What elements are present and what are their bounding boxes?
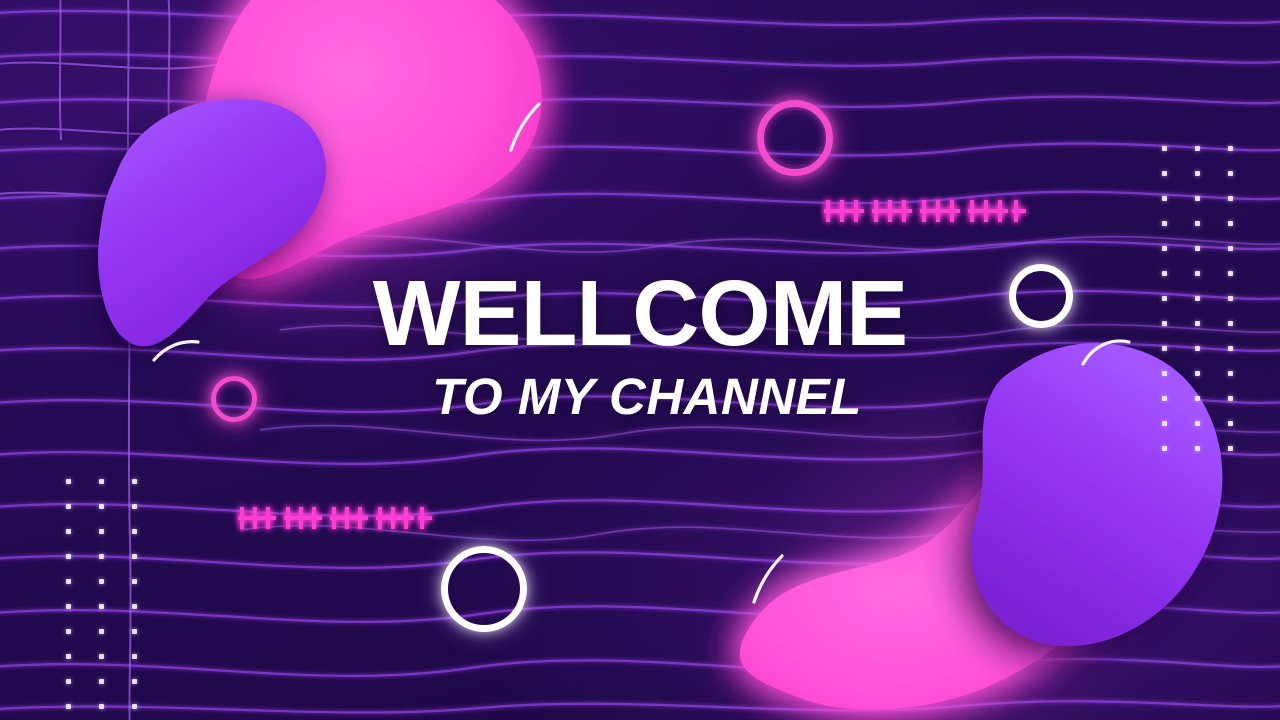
dot — [1162, 221, 1167, 226]
dot — [99, 479, 104, 484]
dot — [1162, 146, 1167, 151]
headline-block: WELLCOME TO MY CHANNEL — [0, 268, 1280, 422]
dot — [66, 529, 71, 534]
dot — [99, 679, 104, 684]
dot — [1228, 146, 1233, 151]
dot — [99, 654, 104, 659]
dot — [99, 529, 104, 534]
page-title: WELLCOME — [0, 268, 1280, 359]
dot — [132, 529, 137, 534]
dot — [66, 604, 71, 609]
ring-white-large — [441, 546, 527, 632]
dot — [66, 679, 71, 684]
accent-arc-top-left — [505, 100, 549, 156]
dot — [1195, 446, 1200, 451]
dot — [1195, 246, 1200, 251]
dot — [66, 479, 71, 484]
dot — [66, 704, 71, 709]
dot — [1162, 171, 1167, 176]
dot — [99, 504, 104, 509]
dot — [99, 629, 104, 634]
accent-arc-bottom-right — [748, 552, 792, 608]
dot — [99, 554, 104, 559]
dot — [1195, 221, 1200, 226]
tally-marks-bottom-left — [234, 503, 434, 533]
dot-grid-left — [66, 479, 137, 720]
dot — [66, 554, 71, 559]
dot — [1228, 196, 1233, 201]
dot — [66, 629, 71, 634]
page-subtitle: TO MY CHANNEL — [0, 371, 1280, 422]
dot — [132, 654, 137, 659]
dot — [1162, 196, 1167, 201]
dot — [132, 604, 137, 609]
dot — [132, 504, 137, 509]
dot — [66, 579, 71, 584]
dot — [1228, 446, 1233, 451]
dot — [132, 554, 137, 559]
welcome-banner: WELLCOME TO MY CHANNEL — [0, 0, 1280, 720]
dot — [1195, 196, 1200, 201]
dot — [1195, 171, 1200, 176]
dot — [1162, 246, 1167, 251]
ring-pink-large — [757, 100, 833, 176]
dot — [1195, 146, 1200, 151]
dot — [99, 579, 104, 584]
tally-marks-top-right — [820, 196, 1030, 226]
dot — [1228, 221, 1233, 226]
dot — [1228, 171, 1233, 176]
dot — [132, 479, 137, 484]
dot — [1162, 446, 1167, 451]
dot — [99, 704, 104, 709]
dot — [132, 679, 137, 684]
dot — [66, 654, 71, 659]
dot — [132, 704, 137, 709]
dot — [132, 579, 137, 584]
dot — [99, 604, 104, 609]
dot — [1228, 246, 1233, 251]
dot — [66, 504, 71, 509]
dot — [132, 629, 137, 634]
